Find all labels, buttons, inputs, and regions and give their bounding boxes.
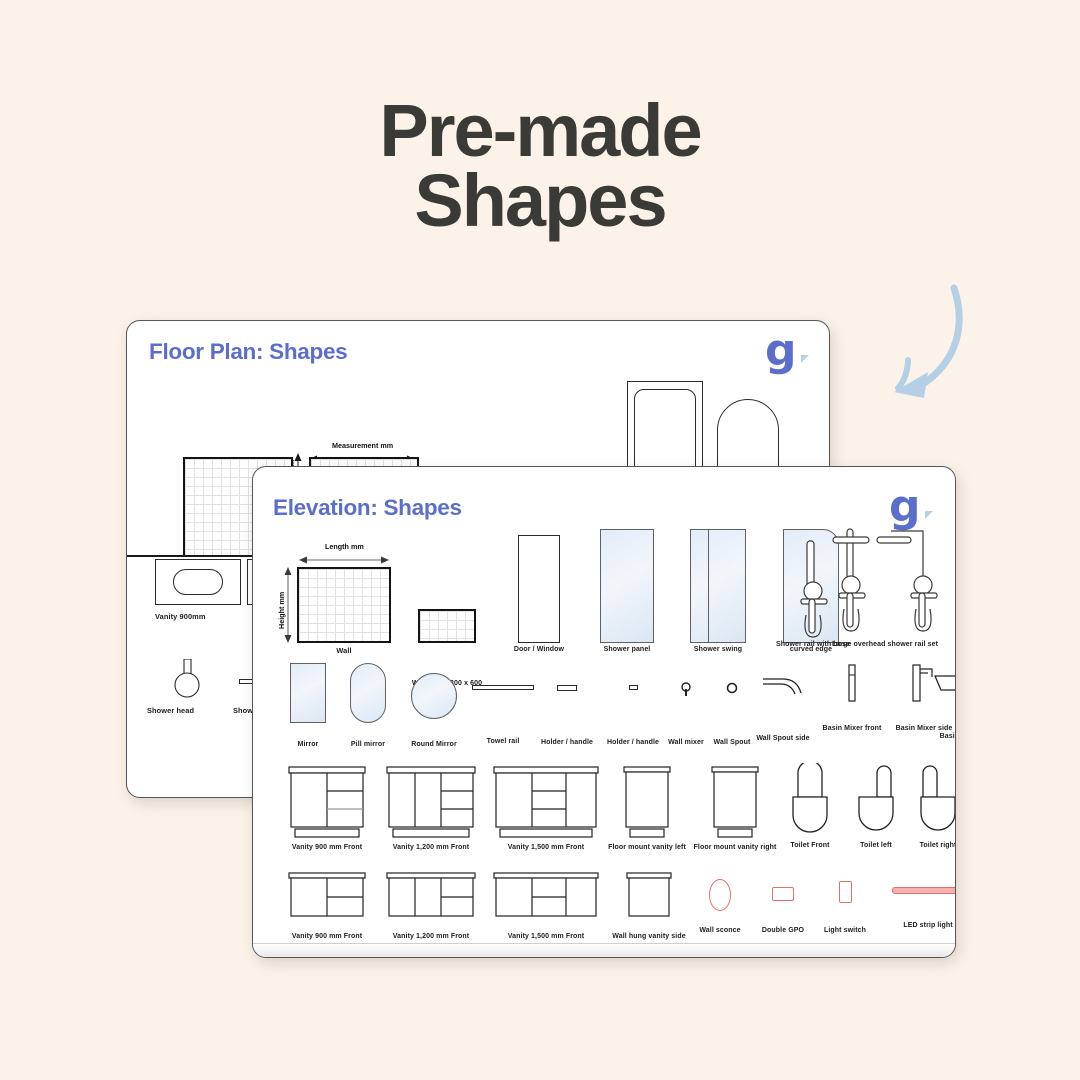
fp-vanity-900-basin: [173, 569, 223, 595]
elev-label-door-window: Door / Window: [499, 646, 579, 653]
wall-spout-side-icon: [761, 673, 805, 699]
brand-logo: g: [765, 335, 811, 383]
wall-shape: [297, 567, 391, 643]
elev-item-wall-spout-side[interactable]: Wall Spout side: [747, 673, 819, 742]
elev-label-toilet-front: Toilet Front: [773, 842, 847, 849]
wall-mixer-icon: [676, 679, 696, 699]
elev-item-toilet-right[interactable]: Toilet right: [903, 763, 956, 849]
vanity-1500-hung-icon: [492, 871, 600, 921]
elev-item-vanity-1500-hung[interactable]: Vanity 1,500 mm Front: [483, 871, 609, 940]
toilet-left-icon: [851, 763, 901, 841]
floor-plan-card-title: Floor Plan: Shapes: [149, 339, 347, 365]
elev-label-shower-panel: Shower panel: [583, 646, 671, 653]
elev-item-led-strip[interactable]: LED strip light: [873, 887, 956, 929]
elev-label-led-strip: LED strip light: [873, 922, 956, 929]
elevation-card-footer-bar: [253, 943, 955, 957]
elev-label-floor-vanity-left: Floor mount vanity left: [603, 844, 691, 851]
double-gpo-shape: [772, 887, 794, 901]
wall-niche-shape: [418, 609, 476, 643]
basin-bowl-icon: [933, 673, 956, 695]
elev-item-floor-vanity-left[interactable]: Floor mount vanity left: [603, 765, 691, 851]
elev-label-floor-vanity-right: Floor mount vanity right: [689, 844, 781, 851]
logo-accent-icon: [801, 355, 809, 363]
elev-label-toilet-left: Toilet left: [841, 842, 911, 849]
elev-item-shower-panel[interactable]: Shower panel: [583, 529, 671, 653]
vanity-900-hung-icon: [287, 871, 367, 921]
elev-label-toilet-right: Toilet right: [903, 842, 956, 849]
page-title-line-1: Pre-made: [0, 96, 1080, 166]
vanity-1200-floor-icon: [385, 765, 477, 841]
elev-length-dim-arrow-icon: [299, 555, 389, 565]
mirror-round-shape: [411, 673, 457, 719]
elev-label-vanity-1500-hung: Vanity 1,500 mm Front: [483, 933, 609, 940]
vanity-1200-hung-icon: [385, 871, 477, 921]
elev-item-pill-mirror[interactable]: Pill mirror: [333, 663, 403, 748]
basin-mixer-front-icon: [844, 663, 860, 703]
elev-label-holder-wide: Holder / handle: [531, 739, 603, 746]
page-title-line-2: Shapes: [0, 166, 1080, 236]
elev-item-towel-rail[interactable]: Towel rail: [465, 685, 541, 745]
toilet-front-icon: [785, 763, 835, 841]
logo-letter-g: g: [765, 329, 797, 373]
elev-label-pill-mirror: Pill mirror: [333, 741, 403, 748]
shower-panel-shape: [600, 529, 654, 643]
holder-wide-shape: [557, 685, 577, 691]
shower-swing-shape: [690, 529, 746, 643]
elev-label-wall-spout-side: Wall Spout side: [747, 735, 819, 742]
elev-label-towel-rail: Towel rail: [465, 738, 541, 745]
elev-label-vanity-900-hung: Vanity 900 mm Front: [275, 933, 379, 940]
elev-label-vanity-side: Wall hung vanity side: [601, 933, 697, 940]
elev-item-vanity-1200-floor[interactable]: Vanity 1,200 mm Front: [375, 765, 487, 851]
floor-vanity-left-icon: [620, 765, 674, 841]
elev-label-overhead-rail-set: Large overhead shower rail set: [819, 641, 951, 648]
fp-vanity-900-label: Vanity 900mm: [155, 612, 241, 621]
elevation-card-title: Elevation: Shapes: [273, 495, 462, 521]
elev-item-overhead-rail-set[interactable]: Large overhead shower rail set: [819, 507, 951, 648]
elev-item-floor-vanity-right[interactable]: Floor mount vanity right: [689, 765, 781, 851]
elev-item-vanity-900-hung[interactable]: Vanity 900 mm Front: [275, 871, 379, 940]
wall-spout-icon: [723, 679, 741, 699]
wall-sconce-shape: [709, 879, 731, 911]
elev-label-vanity-1500-floor: Vanity 1,500 mm Front: [483, 844, 609, 851]
elev-item-vanity-900-floor[interactable]: Vanity 900 mm Front: [275, 765, 379, 851]
fp-measurement-horizontal-label: Measurement mm: [332, 441, 393, 450]
elev-item-vanity-1500-floor[interactable]: Vanity 1,500 mm Front: [483, 765, 609, 851]
fp-shower-head-label: Shower head: [147, 706, 227, 715]
elev-item-wall[interactable]: Wall: [297, 567, 391, 655]
door-window-shape: [518, 535, 560, 643]
elev-item-basin-bowl[interactable]: Basin Bowl: [899, 673, 956, 740]
vanity-1500-floor-icon: [492, 765, 600, 841]
towel-rail-shape: [472, 685, 534, 690]
floor-vanity-right-icon: [708, 765, 762, 841]
mirror-rect-shape: [290, 663, 326, 723]
elev-item-door-window[interactable]: Door / Window: [499, 535, 579, 653]
holder-small-shape: [629, 685, 638, 690]
elev-item-holder-wide[interactable]: Holder / handle: [531, 685, 603, 746]
curved-arrow-icon: [858, 276, 998, 416]
elev-length-label: Length mm: [325, 542, 364, 551]
fp-shower-head-icon: [167, 659, 207, 701]
wall-hung-vanity-side-icon: [625, 871, 673, 921]
elev-label-basin-mixer-front: Basin Mixer front: [813, 725, 891, 732]
elev-item-toilet-front[interactable]: Toilet Front: [773, 763, 847, 849]
elevation-card[interactable]: Elevation: Shapes g Length mm Height mm …: [252, 466, 956, 958]
light-switch-shape: [839, 881, 852, 903]
led-strip-shape: [892, 887, 956, 894]
elev-label-basin-bowl: Basin Bowl: [899, 733, 956, 740]
elev-item-mirror[interactable]: Mirror: [277, 663, 339, 748]
elev-label-vanity-1200-floor: Vanity 1,200 mm Front: [375, 844, 487, 851]
mirror-pill-shape: [350, 663, 386, 723]
elev-item-basin-mixer-front[interactable]: Basin Mixer front: [813, 663, 891, 732]
elev-height-dim-arrow-icon: [283, 567, 293, 643]
elev-label-wall: Wall: [297, 646, 391, 655]
elev-label-round-mirror: Round Mirror: [395, 741, 473, 748]
elev-label-vanity-900-floor: Vanity 900 mm Front: [275, 844, 379, 851]
elev-item-round-mirror[interactable]: Round Mirror: [395, 673, 473, 748]
toilet-right-icon: [913, 763, 956, 841]
overhead-shower-rail-icon: [819, 507, 951, 643]
elev-label-mirror: Mirror: [277, 741, 339, 748]
page-title: Pre-made Shapes: [0, 96, 1080, 237]
elev-label-vanity-1200-hung: Vanity 1,200 mm Front: [375, 933, 487, 940]
vanity-900-floor-icon: [287, 765, 367, 841]
elev-item-vanity-1200-hung[interactable]: Vanity 1,200 mm Front: [375, 871, 487, 940]
elev-item-toilet-left[interactable]: Toilet left: [841, 763, 911, 849]
